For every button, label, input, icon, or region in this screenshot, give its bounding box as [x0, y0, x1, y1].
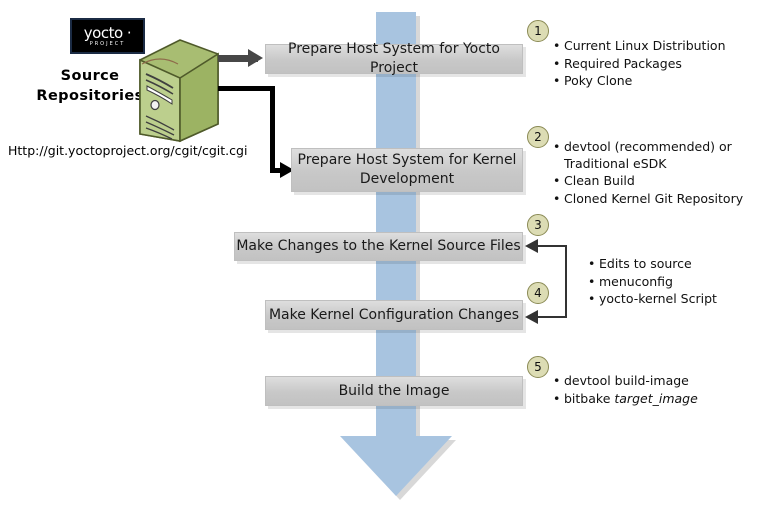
list-item: yocto-kernel Script [599, 291, 766, 308]
list-item: Cloned Kernel Git Repository [564, 191, 766, 208]
bitbake-command: bitbake target_image [564, 391, 698, 406]
diagram-canvas: yocto · PROJECT Source Repositories Http… [0, 0, 769, 517]
connector-server-to-step2-vertical [270, 86, 275, 171]
step-notes-5: devtool build-image bitbake target_image [551, 373, 766, 408]
step-badge-4: 4 [527, 282, 549, 304]
list-item-bitbake: bitbake target_image [564, 391, 766, 408]
list-item: Current Linux Distribution [564, 38, 766, 55]
step-box-4[interactable]: Make Kernel Configuration Changes [265, 300, 523, 330]
italic-term: target_image [614, 391, 697, 406]
spine-shadow [416, 16, 420, 437]
step-box-1[interactable]: Prepare Host System for Yocto Project [265, 44, 523, 74]
down-arrow-icon [340, 436, 452, 496]
yocto-logo-subtext: PROJECT [72, 41, 143, 48]
list-item: devtool build-image [564, 373, 766, 390]
list-item: Clean Build [564, 173, 766, 190]
connector-server-to-step2-horizontal [218, 86, 275, 91]
step-badge-2: 2 [527, 126, 549, 148]
list-item: Poky Clone [564, 73, 766, 90]
bracket-vertical [565, 245, 567, 318]
step-box-2[interactable]: Prepare Host System for Kernel Developme… [291, 148, 523, 192]
step-box-5[interactable]: Build the Image [265, 376, 523, 406]
step-box-3[interactable]: Make Changes to the Kernel Source Files [234, 232, 523, 261]
bracket-arrowhead-step3 [525, 239, 538, 253]
bracket-arrowhead-step4 [525, 310, 538, 324]
list-item: Required Packages [564, 56, 766, 73]
server-icon [136, 38, 222, 143]
list-item: menuconfig [599, 274, 766, 291]
step-notes-1: Current Linux Distribution Required Pack… [551, 38, 766, 91]
step-notes-2: devtool (recommended) or Traditional eSD… [551, 139, 766, 208]
step-badge-3: 3 [527, 214, 549, 236]
step-badge-1: 1 [527, 20, 549, 42]
yocto-logo: yocto · PROJECT [70, 18, 145, 54]
source-repositories-url: Http://git.yoctoproject.org/cgit/cgit.cg… [8, 143, 247, 158]
list-item: devtool (recommended) or Traditional eSD… [564, 139, 766, 172]
yocto-logo-wordmark: yocto · [72, 20, 143, 41]
connector-server-to-step1-arrowhead [248, 49, 263, 67]
step-badge-5: 5 [527, 356, 549, 378]
source-repositories-label: Source Repositories [35, 66, 145, 106]
bracket-bottom-horizontal [537, 316, 566, 318]
list-item: Edits to source [599, 256, 766, 273]
shared-notes-steps-3-4: Edits to source menuconfig yocto-kernel … [586, 256, 766, 309]
bracket-top-horizontal [537, 245, 566, 247]
